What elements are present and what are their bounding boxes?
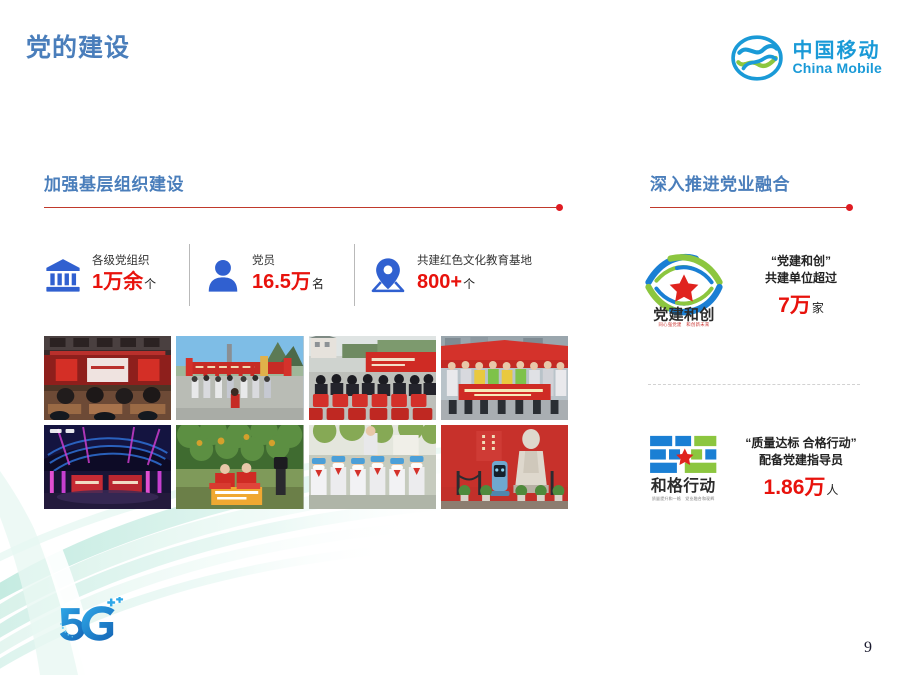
stat-value: 1万余个	[92, 271, 156, 295]
promo-stat: 7万家	[740, 291, 862, 321]
stat-label: 共建红色文化教育基地	[417, 255, 532, 269]
promo-divider	[648, 384, 860, 385]
photo-orchard-livestream	[176, 425, 303, 509]
promo-hege-xingdong: 和格行动 质量提升和一格 党业融合和现辉 “质量达标 合格行动” 配备党建指导员…	[640, 428, 862, 510]
stat-label: 各级党组织	[92, 255, 156, 269]
stat-value: 16.5万名	[252, 271, 324, 295]
promo-line-1: “党建和创”	[740, 253, 862, 270]
section-heading-left: 加强基层组织建设	[44, 170, 560, 208]
brand-name-cn: 中国移动	[792, 41, 882, 61]
promo-text: “党建和创” 共建单位超过 7万家	[740, 253, 862, 321]
5g-plus-plus-logo-icon	[52, 597, 126, 643]
section-rule-dot-left	[556, 204, 563, 211]
photo-meeting-hall	[44, 336, 171, 420]
map-pin-icon	[369, 256, 407, 294]
svg-text:党建和创: 党建和创	[653, 305, 714, 323]
photo-students-vr	[309, 425, 436, 509]
dangjianhechuang-diamond-star-logo-icon: 党建和创 同心强党建 和创新未来	[640, 246, 728, 328]
brand-logo: 中国移动 China Mobile	[731, 32, 882, 84]
hegexingdong-blocks-star-logo-icon: 和格行动 质量提升和一格 党业融合和现辉	[640, 428, 728, 510]
section-title-right: 深入推进党业融合	[650, 170, 850, 195]
promo-line-1: “质量达标 合格行动”	[740, 435, 862, 452]
brand-name-en: China Mobile	[792, 61, 882, 75]
stat-number: 1万余	[92, 271, 143, 293]
photo-museum-statue	[441, 425, 568, 509]
section-title-left: 加强基层组织建设	[44, 170, 560, 195]
photo-outdoor-ceremony	[176, 336, 303, 420]
page-title: 党的建设	[26, 28, 130, 64]
page-number: 9	[864, 639, 872, 657]
brand-text: 中国移动 China Mobile	[792, 41, 882, 76]
stat-red-culture-bases: 共建红色文化教育基地 800+个	[369, 242, 555, 308]
stat-body: 各级党组织 1万余个	[92, 255, 156, 294]
stat-number: 16.5万	[252, 271, 311, 293]
photo-stage-event	[44, 425, 171, 509]
promo-unit: 人	[826, 483, 838, 497]
svg-text:质量提升和一格 党业融合和现辉: 质量提升和一格 党业融合和现辉	[652, 496, 715, 501]
promo-dangjian-hechuang: 党建和创 同心强党建 和创新未来 “党建和创” 共建单位超过 7万家	[640, 246, 862, 328]
stat-unit: 个	[463, 277, 475, 291]
section-rule-right	[650, 207, 850, 208]
svg-text:和格行动: 和格行动	[651, 476, 716, 495]
stat-unit: 个	[144, 277, 156, 291]
stat-body: 共建红色文化教育基地 800+个	[417, 255, 532, 294]
photo-volunteers-banner	[441, 336, 568, 420]
promo-unit: 家	[812, 301, 824, 315]
photo-grid	[44, 336, 568, 509]
section-rule-left	[44, 207, 560, 208]
bank-institution-icon	[44, 256, 82, 294]
promo-stat: 1.86万人	[740, 473, 862, 503]
section-rule-dot-right	[846, 204, 853, 211]
stat-divider	[189, 244, 190, 306]
stat-value: 800+个	[417, 271, 532, 295]
promo-number: 7万	[778, 294, 811, 317]
stat-divider	[354, 244, 355, 306]
stat-party-organizations: 各级党组织 1万余个	[44, 242, 189, 308]
stat-label: 党员	[252, 255, 324, 269]
stats-row: 各级党组织 1万余个 党员 16.5万名	[44, 240, 564, 310]
stat-body: 党员 16.5万名	[252, 255, 324, 294]
stat-number: 800+	[417, 271, 462, 293]
china-mobile-wave-emblem-icon	[731, 32, 783, 84]
stat-unit: 名	[312, 277, 324, 291]
promo-number: 1.86万	[764, 476, 826, 499]
photo-plaza-assembly	[309, 336, 436, 420]
svg-text:同心强党建 和创新未来: 同心强党建 和创新未来	[658, 321, 709, 328]
promo-line-2: 配备党建指导员	[740, 452, 862, 469]
promo-line-2: 共建单位超过	[740, 270, 862, 287]
promo-text: “质量达标 合格行动” 配备党建指导员 1.86万人	[740, 435, 862, 503]
stat-party-members: 党员 16.5万名	[204, 242, 354, 308]
slide-canvas: 党的建设 中国移动 China Mobile 加强基层组织建设 深入推进党业融合	[0, 0, 900, 675]
person-icon	[204, 256, 242, 294]
section-heading-right: 深入推进党业融合	[650, 170, 850, 208]
